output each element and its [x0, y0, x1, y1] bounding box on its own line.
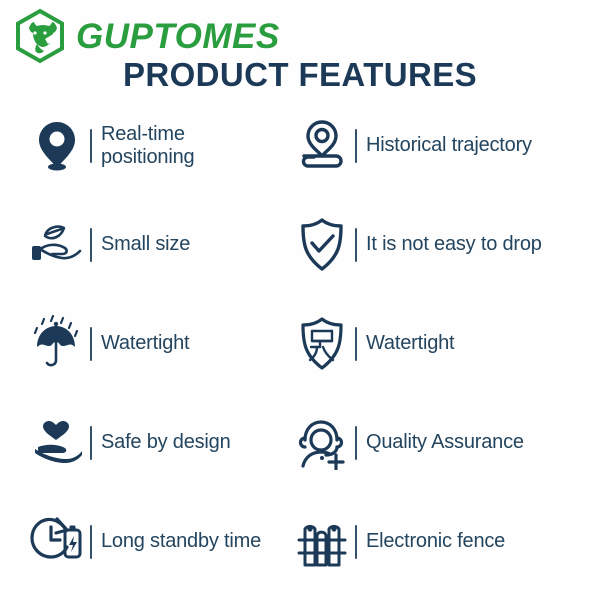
feature-divider [355, 426, 357, 460]
feature-divider [90, 228, 92, 262]
feature-label: Historical trajectory [366, 134, 532, 156]
product-features-page: GUPTOMES PRODUCT FEATURES Real-time posi… [0, 0, 600, 600]
feature-item-quality-assurance: Quality Assurance [285, 393, 600, 492]
feature-divider [355, 525, 357, 559]
feature-divider [355, 228, 357, 262]
clock-battery-icon [28, 512, 86, 572]
headset-support-plus-icon [293, 413, 351, 473]
shield-quality-character-icon [293, 314, 351, 374]
feature-label: Electronic fence [366, 530, 505, 552]
feature-item-real-time-positioning: Real-time positioning [0, 96, 285, 195]
hand-heart-icon [28, 413, 86, 473]
feature-item-small-size: Small size [0, 195, 285, 294]
feature-label: Small size [101, 233, 190, 255]
feature-divider [90, 525, 92, 559]
brand-name: GUPTOMES [76, 19, 280, 54]
feature-label: Safe by design [101, 431, 231, 453]
feature-label: Watertight [366, 332, 454, 354]
electronic-fence-icon [293, 512, 351, 572]
feature-label: Real-time positioning [101, 123, 194, 169]
feature-item-not-easy-to-drop: It is not easy to drop [285, 195, 600, 294]
route-pin-icon [293, 116, 351, 176]
feature-divider [355, 129, 357, 163]
feature-label: Watertight [101, 332, 189, 354]
page-title: PRODUCT FEATURES [0, 56, 600, 94]
umbrella-rain-icon [28, 314, 86, 374]
feature-divider [90, 327, 92, 361]
hand-leaf-icon [28, 215, 86, 275]
feature-label: It is not easy to drop [366, 233, 542, 255]
feature-item-electronic-fence: Electronic fence [285, 492, 600, 591]
features-grid: Real-time positioning Historical traject… [0, 96, 600, 586]
feature-label: Quality Assurance [366, 431, 524, 453]
feature-item-watertight-umbrella: Watertight [0, 294, 285, 393]
shield-check-icon [293, 215, 351, 275]
feature-divider [90, 129, 92, 163]
feature-divider [90, 426, 92, 460]
feature-label: Long standby time [101, 530, 261, 552]
feature-item-safe-by-design: Safe by design [0, 393, 285, 492]
location-pin-icon [28, 116, 86, 176]
feature-item-long-standby-time: Long standby time [0, 492, 285, 591]
feature-divider [355, 327, 357, 361]
feature-item-historical-trajectory: Historical trajectory [285, 96, 600, 195]
feature-item-watertight-quality: Watertight [285, 294, 600, 393]
